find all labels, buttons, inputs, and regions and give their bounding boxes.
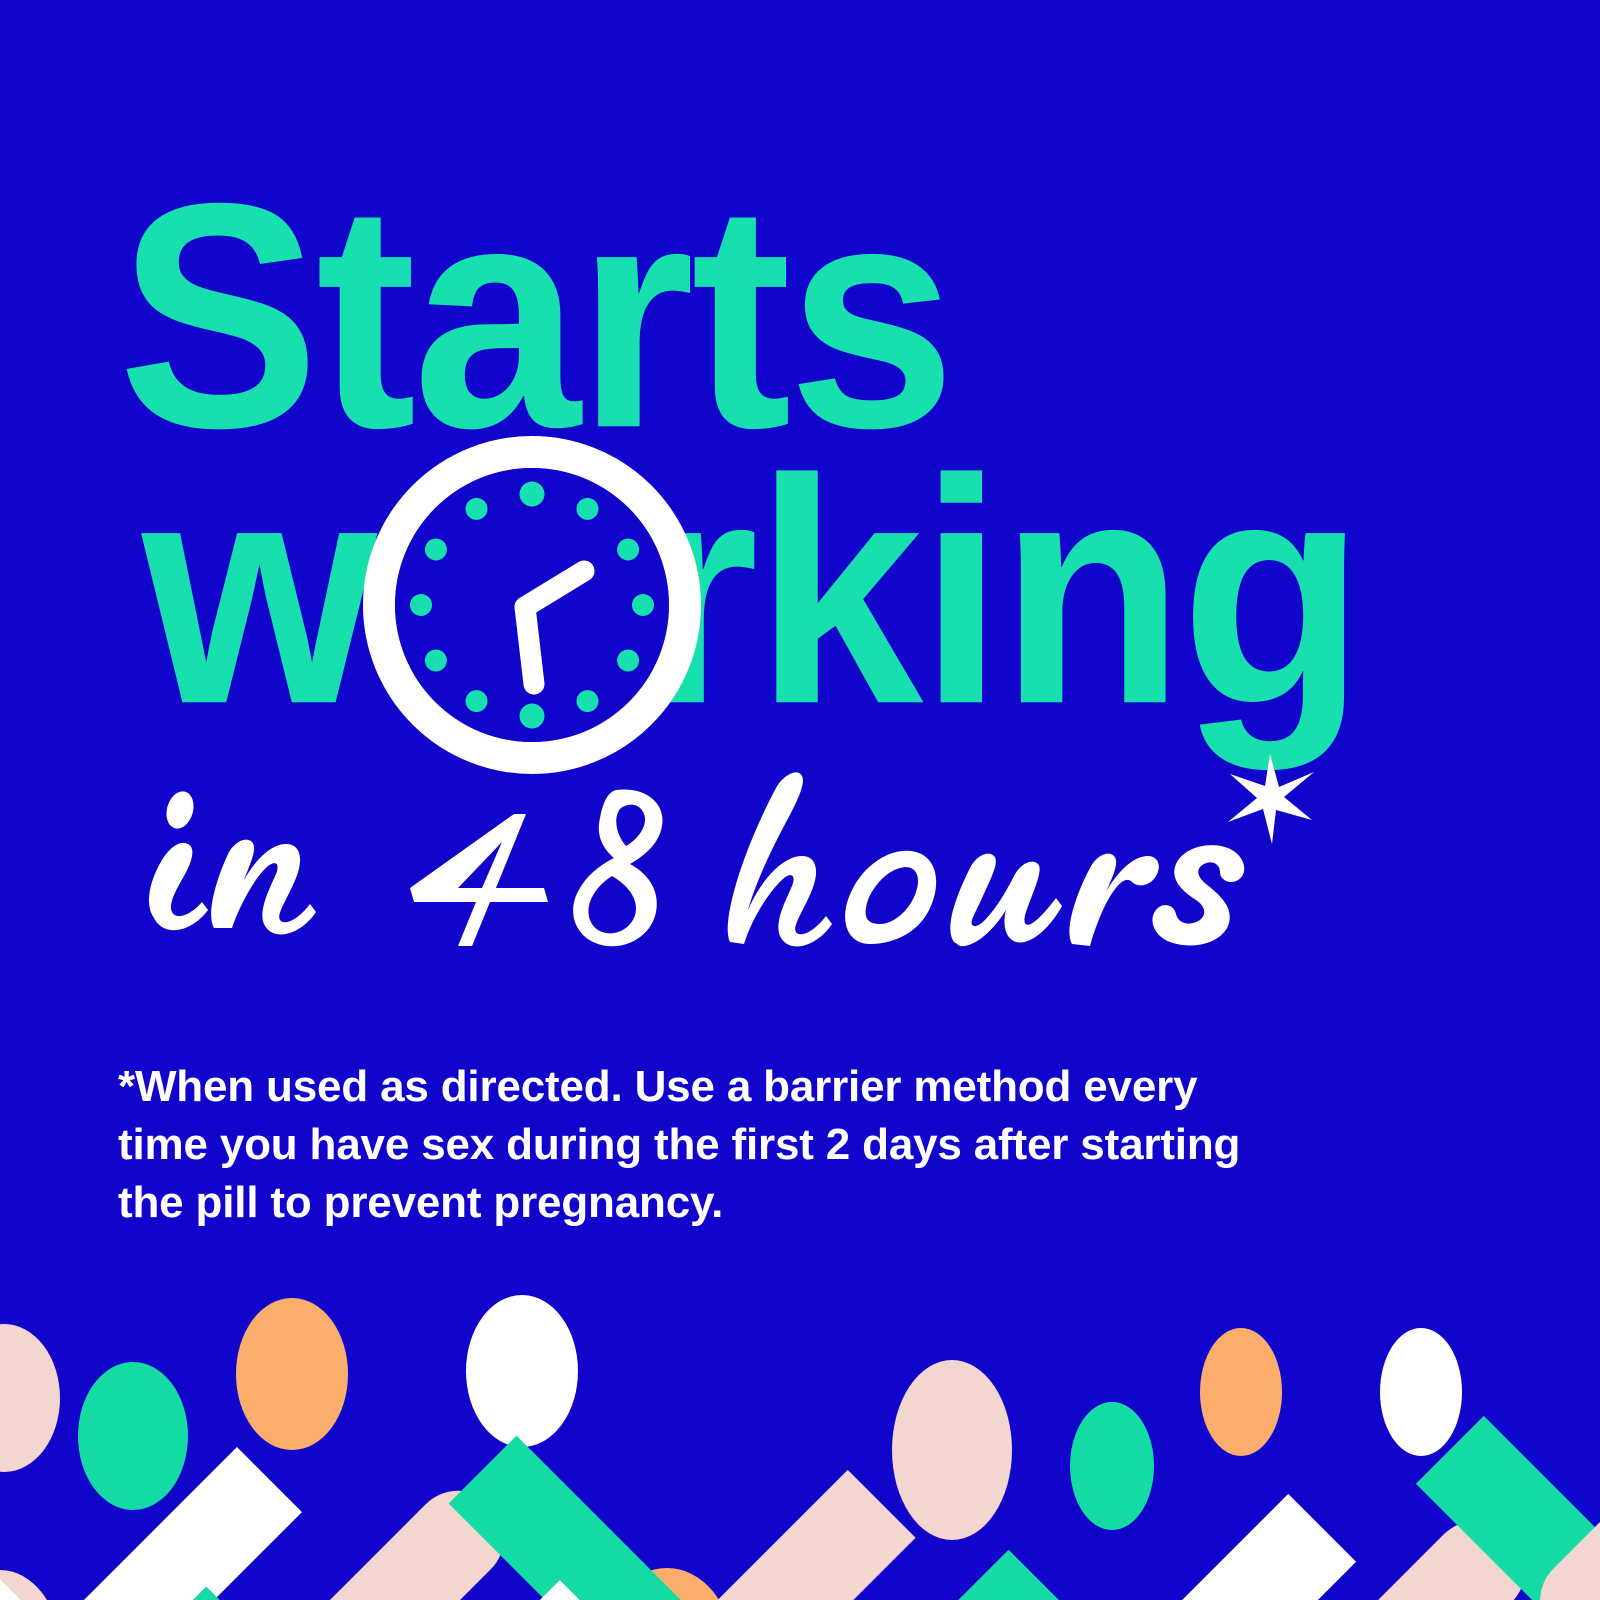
script-headline [118,752,1318,962]
headline-line-2-suffix: rking [641,413,1361,770]
headline-line-1: Starts [118,156,952,476]
confetti-bar [941,1550,1172,1600]
poster-canvas: Starts wrking [0,0,1600,1600]
clock-icon [362,435,702,775]
confetti-ellipse [1070,1402,1154,1530]
asterisk-glyph [1228,754,1314,844]
confetti-band [0,1240,1600,1600]
confetti-ellipse [1200,1328,1282,1456]
clock-minute-hand [525,607,534,684]
confetti-ellipse [466,1295,578,1447]
confetti-ellipse [0,1324,60,1472]
confetti-ellipse [236,1298,348,1450]
confetti-ellipse [892,1360,1012,1540]
headline-line-2: wrking [142,432,1362,752]
footnote-text: *When used as directed. Use a barrier me… [118,1058,1298,1232]
headline-line-2-prefix: w [142,413,373,770]
confetti-ellipse [1380,1328,1462,1456]
confetti-ellipse [78,1362,188,1510]
script-glyphs [149,754,1314,946]
headline: Starts wrking [0,0,1600,790]
